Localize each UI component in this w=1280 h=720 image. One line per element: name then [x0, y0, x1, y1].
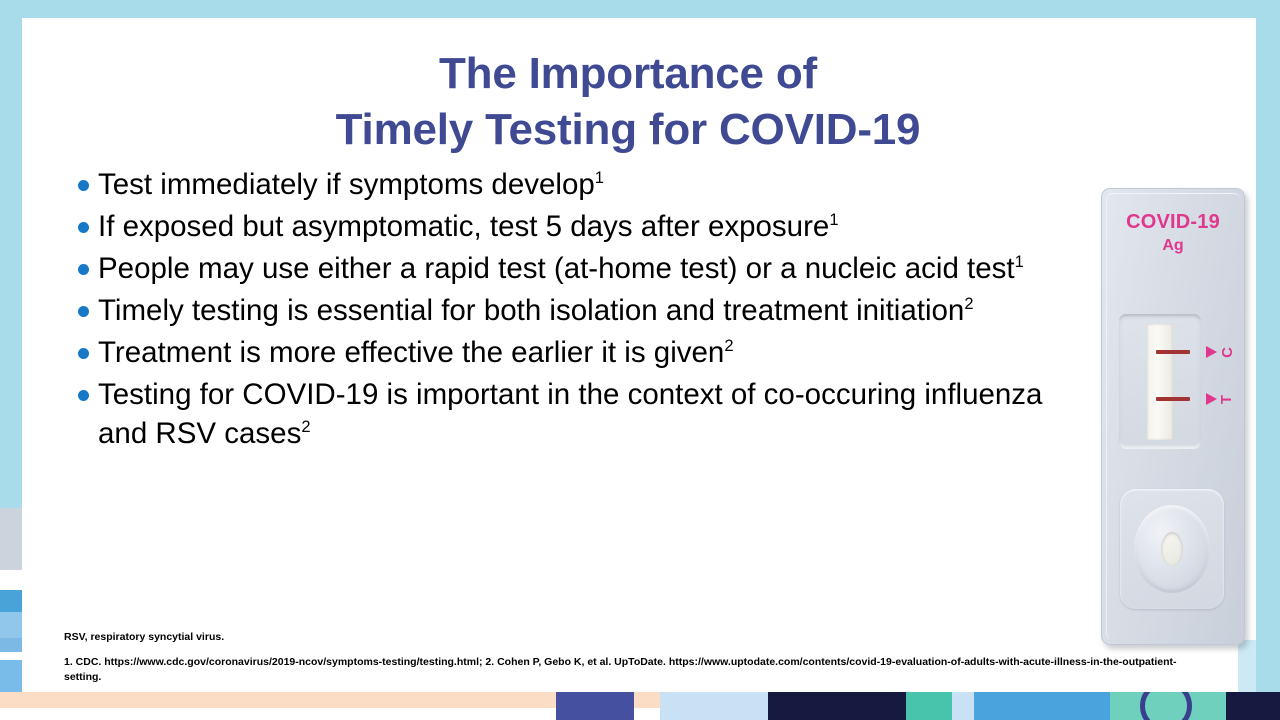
bullet-dot-icon [78, 180, 89, 191]
covid-test-cassette-image: COVID-19 Ag C T [1101, 188, 1245, 645]
list-item: Test immediately if symptoms develop1 [54, 166, 1044, 205]
bullet-reference: 1 [595, 168, 604, 187]
control-arrow-icon [1206, 346, 1217, 358]
band-block-paleblue-2 [952, 692, 974, 720]
cassette-brand-line-1: COVID-19 [1102, 211, 1244, 234]
list-item: People may use either a rapid test (at-h… [54, 250, 1044, 289]
bullet-reference: 2 [964, 294, 973, 313]
right-edge-pale-block [1238, 640, 1256, 700]
bullet-dot-icon [78, 348, 89, 359]
title-line-2: Timely Testing for COVID-19 [22, 102, 1234, 158]
bullet-reference: 1 [829, 210, 838, 229]
cassette-brand-line-2: Ag [1102, 237, 1244, 255]
test-line-indicator [1156, 397, 1190, 401]
band-block-navy-2 [1226, 692, 1280, 720]
abbreviation-note: RSV, respiratory syncytial virus. [64, 630, 1199, 646]
band-block-teal [906, 692, 952, 720]
test-strip [1147, 324, 1173, 440]
top-edge-decoration [0, 0, 1280, 18]
left-edge-decoration-gray [0, 508, 22, 570]
test-letter-label: T [1218, 395, 1235, 404]
left-edge-gap [0, 652, 22, 660]
band-block-paleblue [660, 692, 768, 720]
band-block-navy [768, 692, 906, 720]
sample-well-outer [1134, 505, 1210, 593]
bullet-dot-icon [78, 264, 89, 275]
bullet-dot-icon [78, 222, 89, 233]
result-window-recess [1119, 314, 1201, 449]
reference-list: 1. CDC. https://www.cdc.gov/coronavirus/… [64, 655, 1199, 685]
bullet-text: If exposed but asymptomatic, test 5 days… [98, 210, 829, 243]
sample-well-recess [1120, 489, 1224, 609]
right-edge-decoration [1256, 0, 1280, 700]
bullet-reference: 2 [724, 336, 733, 355]
control-letter-label: C [1219, 347, 1236, 358]
bullet-reference: 1 [1015, 252, 1024, 271]
bullet-text: Treatment is more effective the earlier … [98, 336, 724, 369]
title-line-1: The Importance of [22, 46, 1234, 102]
list-item: Testing for COVID-19 is important in the… [54, 376, 1044, 454]
bullet-dot-icon [78, 306, 89, 317]
bullet-text: Testing for COVID-19 is important in the… [98, 378, 1042, 450]
bullet-text: Test immediately if symptoms develop [98, 168, 595, 201]
bullet-list: Test immediately if symptoms develop1 If… [54, 166, 1044, 457]
band-block-indigo [556, 692, 634, 720]
band-block-blue [974, 692, 1110, 720]
footnotes: RSV, respiratory syncytial virus. 1. CDC… [64, 630, 1199, 685]
test-arrow-icon [1206, 393, 1217, 405]
left-edge-block-1 [0, 590, 22, 612]
bullet-dot-icon [78, 390, 89, 401]
bullet-text: People may use either a rapid test (at-h… [98, 252, 1015, 285]
sample-well-opening [1161, 532, 1183, 566]
bullet-reference: 2 [301, 417, 310, 436]
left-edge-block-3 [0, 638, 22, 652]
cassette-brand-label: COVID-19 Ag [1102, 211, 1244, 255]
page-title: The Importance of Timely Testing for COV… [22, 46, 1234, 159]
list-item: If exposed but asymptomatic, test 5 days… [54, 208, 1044, 247]
bottom-decorative-band [0, 692, 1280, 720]
slide: The Importance of Timely Testing for COV… [0, 0, 1280, 720]
bullet-text: Timely testing is essential for both iso… [98, 294, 964, 327]
left-edge-decoration-blue [0, 0, 22, 508]
content-card: The Importance of Timely Testing for COV… [22, 18, 1234, 692]
list-item: Treatment is more effective the earlier … [54, 334, 1044, 373]
list-item: Timely testing is essential for both iso… [54, 292, 1044, 331]
control-line-indicator [1156, 350, 1190, 354]
